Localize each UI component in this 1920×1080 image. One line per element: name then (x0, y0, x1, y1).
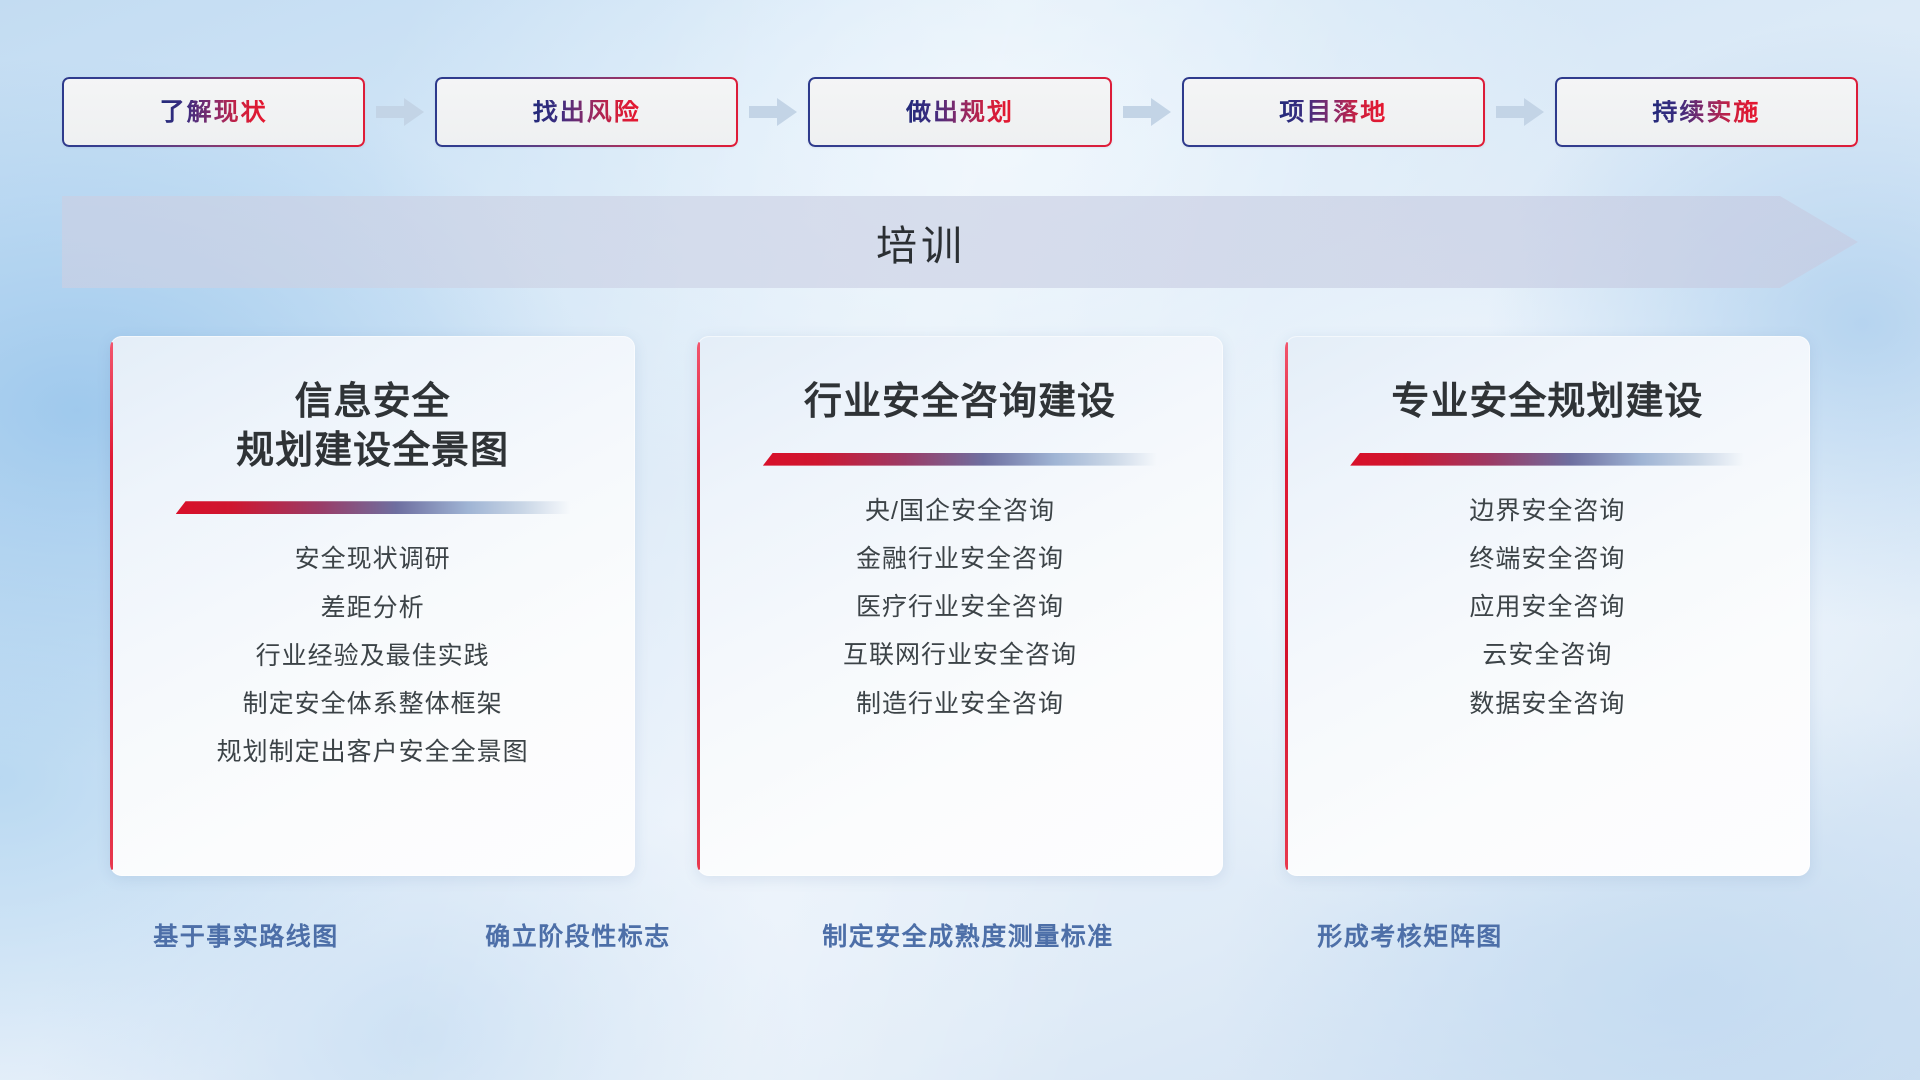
card-list-item[interactable]: 应用安全咨询 (1469, 592, 1625, 623)
footnote-label-3: 制定安全成熟度测量标准 (822, 912, 1114, 962)
card-list-item[interactable]: 医疗行业安全咨询 (856, 592, 1064, 623)
step-arrow-icon (374, 95, 426, 129)
card-divider-bar (1350, 453, 1744, 466)
card-list-item[interactable]: 制定安全体系整体框架 (243, 689, 503, 720)
card-list-item[interactable]: 金融行业安全咨询 (856, 544, 1064, 575)
card-list-item[interactable]: 差距分析 (321, 593, 425, 624)
service-card-2[interactable]: 行业安全咨询建设央/国企安全咨询金融行业安全咨询医疗行业安全咨询互联网行业安全咨… (697, 336, 1222, 876)
card-list-item[interactable]: 边界安全咨询 (1469, 496, 1625, 527)
card-content: 信息安全规划建设全景图安全现状调研差距分析行业经验及最佳实践制定安全体系整体框架… (110, 336, 635, 876)
step-arrow-icon (1494, 95, 1546, 129)
card-list-item[interactable]: 制造行业安全咨询 (856, 689, 1064, 720)
step-label: 持续实施 (1652, 100, 1760, 125)
card-item-list: 央/国企安全咨询金融行业安全咨询医疗行业安全咨询互联网行业安全咨询制造行业安全咨… (843, 496, 1077, 720)
process-steps-row: 了解现状找出风险做出规划项目落地持续实施 (62, 76, 1858, 148)
footnote-label-4: 形成考核矩阵图 (1317, 912, 1503, 962)
training-band-label: 培训 (62, 196, 1858, 288)
card-list-item[interactable]: 央/国企安全咨询 (865, 496, 1055, 527)
card-list-item[interactable]: 安全现状调研 (295, 544, 451, 575)
step-box-5[interactable]: 持续实施 (1555, 77, 1858, 147)
training-band: 培训 (62, 196, 1858, 288)
card-title: 专业安全规划建设 (1391, 378, 1703, 427)
card-title-line: 专业安全规划建设 (1391, 378, 1703, 427)
step-box-3[interactable]: 做出规划 (808, 77, 1111, 147)
card-title-line: 信息安全 (236, 378, 509, 427)
step-box-4[interactable]: 项目落地 (1182, 77, 1485, 147)
step-label: 了解现状 (160, 100, 268, 125)
card-divider (1350, 453, 1744, 466)
step-label: 做出规划 (906, 100, 1014, 125)
step-arrow-icon (1121, 95, 1173, 129)
card-title: 信息安全规划建设全景图 (236, 378, 509, 475)
card-list-item[interactable]: 规划制定出客户安全全景图 (217, 737, 529, 768)
card-list-item[interactable]: 终端安全咨询 (1469, 544, 1625, 575)
service-card-1[interactable]: 信息安全规划建设全景图安全现状调研差距分析行业经验及最佳实践制定安全体系整体框架… (110, 336, 635, 876)
card-divider (763, 453, 1157, 466)
card-item-list: 边界安全咨询终端安全咨询应用安全咨询云安全咨询数据安全咨询 (1469, 496, 1625, 720)
card-list-item[interactable]: 互联网行业安全咨询 (843, 640, 1077, 671)
card-divider-bar (176, 501, 570, 514)
card-title-line: 规划建设全景图 (236, 427, 509, 476)
step-label: 找出风险 (533, 100, 641, 125)
card-content: 行业安全咨询建设央/国企安全咨询金融行业安全咨询医疗行业安全咨询互联网行业安全咨… (697, 336, 1222, 876)
service-cards-row: 信息安全规划建设全景图安全现状调研差距分析行业经验及最佳实践制定安全体系整体框架… (110, 336, 1810, 876)
service-card-3[interactable]: 专业安全规划建设边界安全咨询终端安全咨询应用安全咨询云安全咨询数据安全咨询 (1285, 336, 1810, 876)
card-divider (176, 501, 570, 514)
card-item-list: 安全现状调研差距分析行业经验及最佳实践制定安全体系整体框架规划制定出客户安全全景… (217, 544, 529, 768)
footnote-label-1: 基于事实路线图 (153, 912, 339, 962)
card-title: 行业安全咨询建设 (804, 378, 1116, 427)
card-content: 专业安全规划建设边界安全咨询终端安全咨询应用安全咨询云安全咨询数据安全咨询 (1285, 336, 1810, 876)
card-title-line: 行业安全咨询建设 (804, 378, 1116, 427)
card-divider-bar (763, 453, 1157, 466)
step-label: 项目落地 (1279, 100, 1387, 125)
card-list-item[interactable]: 云安全咨询 (1482, 640, 1612, 671)
step-box-2[interactable]: 找出风险 (435, 77, 738, 147)
step-arrow-icon (747, 95, 799, 129)
card-list-item[interactable]: 数据安全咨询 (1469, 689, 1625, 720)
footnote-label-2: 确立阶段性标志 (485, 912, 671, 962)
footnote-labels-row: 基于事实路线图确立阶段性标志制定安全成熟度测量标准形成考核矩阵图 (0, 912, 1920, 962)
step-box-1[interactable]: 了解现状 (62, 77, 365, 147)
card-list-item[interactable]: 行业经验及最佳实践 (256, 641, 490, 672)
